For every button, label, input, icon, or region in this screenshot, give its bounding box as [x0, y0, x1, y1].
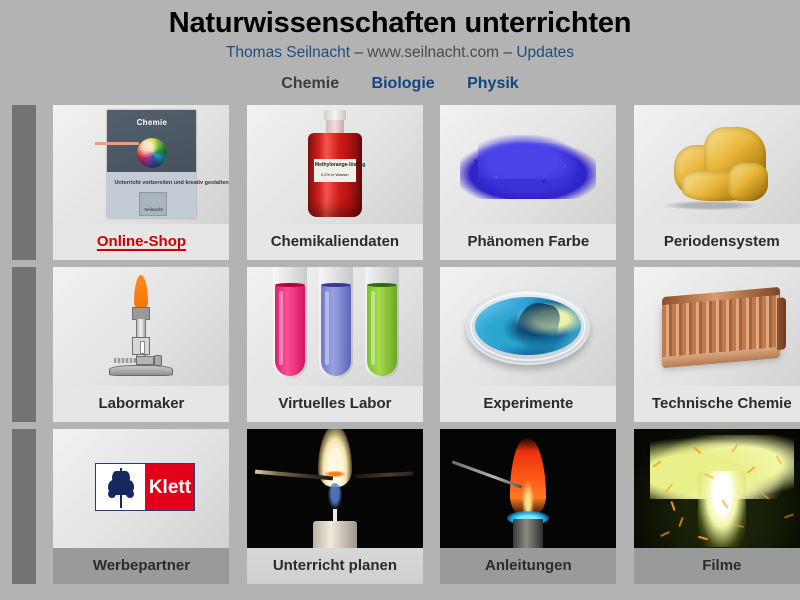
online-shop-thumbnail: Chemie Unterricht vorbereiten und kreati… [53, 105, 229, 224]
experimente-thumbnail [440, 267, 616, 386]
test-tube-green [365, 267, 399, 379]
book-cover-title: Chemie [107, 110, 196, 127]
book-cover-subtitle: Unterricht vorbereiten und kreativ gesta… [107, 172, 196, 187]
tile-caption: Experimente [440, 386, 616, 422]
bottle-label-name: Methylorange-lösung [315, 162, 366, 168]
byline-dash-1: – [354, 44, 363, 61]
chemikaliendaten-thumbnail: Methylorange-lösung 0,2% in Wasser [247, 105, 423, 224]
author-link[interactable]: Thomas Seilnacht [226, 44, 350, 61]
tile-edge-left-row2[interactable] [12, 267, 36, 422]
copper-top-face [662, 287, 780, 305]
book-cover-accent-bar [95, 142, 139, 145]
bottle-label-concentration: 0,2% in Wasser [315, 171, 355, 178]
bottle-body: Methylorange-lösung 0,2% in Wasser [308, 133, 362, 217]
bottle-stopper [324, 110, 346, 120]
tile-caption: Periodensystem [634, 224, 800, 260]
nav-item-physik[interactable]: Physik [467, 75, 519, 92]
unterricht-planen-thumbnail [247, 429, 423, 548]
tile-caption: Unterricht planen [247, 548, 423, 584]
tile-caption: Chemikaliendaten [247, 224, 423, 260]
bunsen-burner-drawing [53, 267, 229, 386]
book-cover-top: Chemie [107, 110, 196, 172]
klett-logo-text: Klett [145, 464, 194, 510]
periodensystem-thumbnail [634, 105, 800, 224]
explosion-sparks [634, 429, 800, 548]
klett-logo-mark-area [96, 464, 145, 510]
tile-row-1: Chemie Unterricht vorbereiten und kreati… [0, 105, 800, 260]
tile-edge-left-row1[interactable] [12, 105, 36, 260]
nav-item-chemie[interactable]: Chemie [281, 75, 339, 92]
test-tube-pink [273, 267, 307, 379]
tile-edge-left-row3[interactable] [12, 429, 36, 584]
tile-caption: Labormaker [53, 386, 229, 422]
bottle-label: Methylorange-lösung 0,2% in Wasser [314, 159, 356, 182]
tile-caption: Technische Chemie [634, 386, 800, 422]
updates-link[interactable]: Updates [516, 44, 574, 61]
site-url[interactable]: www.seilnacht.com [367, 44, 499, 61]
burner-hose [114, 358, 136, 363]
byline: Thomas Seilnacht – www.seilnacht.com – U… [0, 42, 800, 64]
tile-caption: Werbepartner [53, 548, 229, 584]
tile-werbepartner[interactable]: Klett Werbepartner [53, 429, 229, 584]
bottle-neck [326, 120, 344, 134]
tile-experimente[interactable]: Experimente [440, 267, 616, 422]
copper-side-face [777, 297, 786, 350]
klett-plant-icon [106, 468, 136, 508]
burner-barrel [513, 519, 543, 548]
copper-bottom-face [662, 347, 780, 368]
candle-body [313, 521, 357, 548]
main-nav: Chemie Biologie Physik [0, 74, 800, 94]
test-tube-violet [319, 267, 353, 379]
tile-row-2: Labormaker Virtuelles Labor [0, 267, 800, 422]
reagent-bottle-image: Methylorange-lösung 0,2% in Wasser [247, 107, 423, 224]
burner-red-flame [510, 437, 546, 517]
filme-thumbnail [634, 429, 800, 548]
tile-caption: Filme [634, 548, 800, 584]
page-header: Naturwissenschaften unterrichten Thomas … [0, 0, 800, 94]
tile-caption: Online-Shop [53, 224, 229, 260]
technische-chemie-thumbnail [634, 267, 800, 386]
wooden-splint-right [355, 471, 413, 478]
tile-caption: Anleitungen [440, 548, 616, 584]
color-sphere-icon [137, 138, 167, 168]
online-shop-link[interactable]: Online-Shop [97, 233, 186, 250]
tile-technische-chemie[interactable]: Technische Chemie [634, 267, 800, 422]
copper-block-image [662, 292, 780, 364]
book-cover-image: Chemie Unterricht vorbereiten und kreati… [107, 110, 196, 218]
tile-anleitungen[interactable]: Anleitungen [440, 429, 616, 584]
tile-periodensystem[interactable]: Periodensystem [634, 105, 800, 260]
burner-valve [136, 356, 154, 365]
petri-dish-image [466, 289, 590, 365]
klett-logo: Klett [95, 463, 195, 511]
burner-air-regulator [132, 337, 150, 355]
tile-labormaker[interactable]: Labormaker [53, 267, 229, 422]
pigment-grains [462, 145, 594, 197]
tile-row-3: Klett Werbepartner Unterricht planen [0, 429, 800, 584]
nav-item-biologie[interactable]: Biologie [372, 75, 435, 92]
werbepartner-thumbnail: Klett [53, 429, 229, 548]
tile-online-shop[interactable]: Chemie Unterricht vorbereiten und kreati… [53, 105, 229, 260]
tile-chemikaliendaten[interactable]: Methylorange-lösung 0,2% in Wasser Chemi… [247, 105, 423, 260]
byline-dash-2: – [503, 44, 512, 61]
tile-caption: Virtuelles Labor [247, 386, 423, 422]
burner-base [109, 365, 173, 376]
candle-flame-blue-zone [328, 483, 342, 509]
gold-nugget-image [668, 123, 778, 205]
book-cover-publisher: Seilnacht [139, 192, 167, 216]
tile-unterricht-planen[interactable]: Unterricht planen [247, 429, 423, 584]
phaenomen-farbe-thumbnail [440, 105, 616, 224]
tile-phaenomen-farbe[interactable]: Phänomen Farbe [440, 105, 616, 260]
tile-caption: Phänomen Farbe [440, 224, 616, 260]
glowing-ember [325, 471, 345, 477]
flame-icon [134, 275, 148, 309]
tile-virtuelles-labor[interactable]: Virtuelles Labor [247, 267, 423, 422]
virtuelles-labor-thumbnail [247, 267, 423, 386]
page-title: Naturwissenschaften unterrichten [0, 6, 800, 40]
tile-grid: Chemie Unterricht vorbereiten und kreati… [0, 105, 800, 584]
tile-filme[interactable]: Filme [634, 429, 800, 584]
test-tubes-image [247, 267, 423, 386]
labormaker-thumbnail [53, 267, 229, 386]
petri-dish-rim [470, 292, 586, 361]
anleitungen-thumbnail [440, 429, 616, 548]
